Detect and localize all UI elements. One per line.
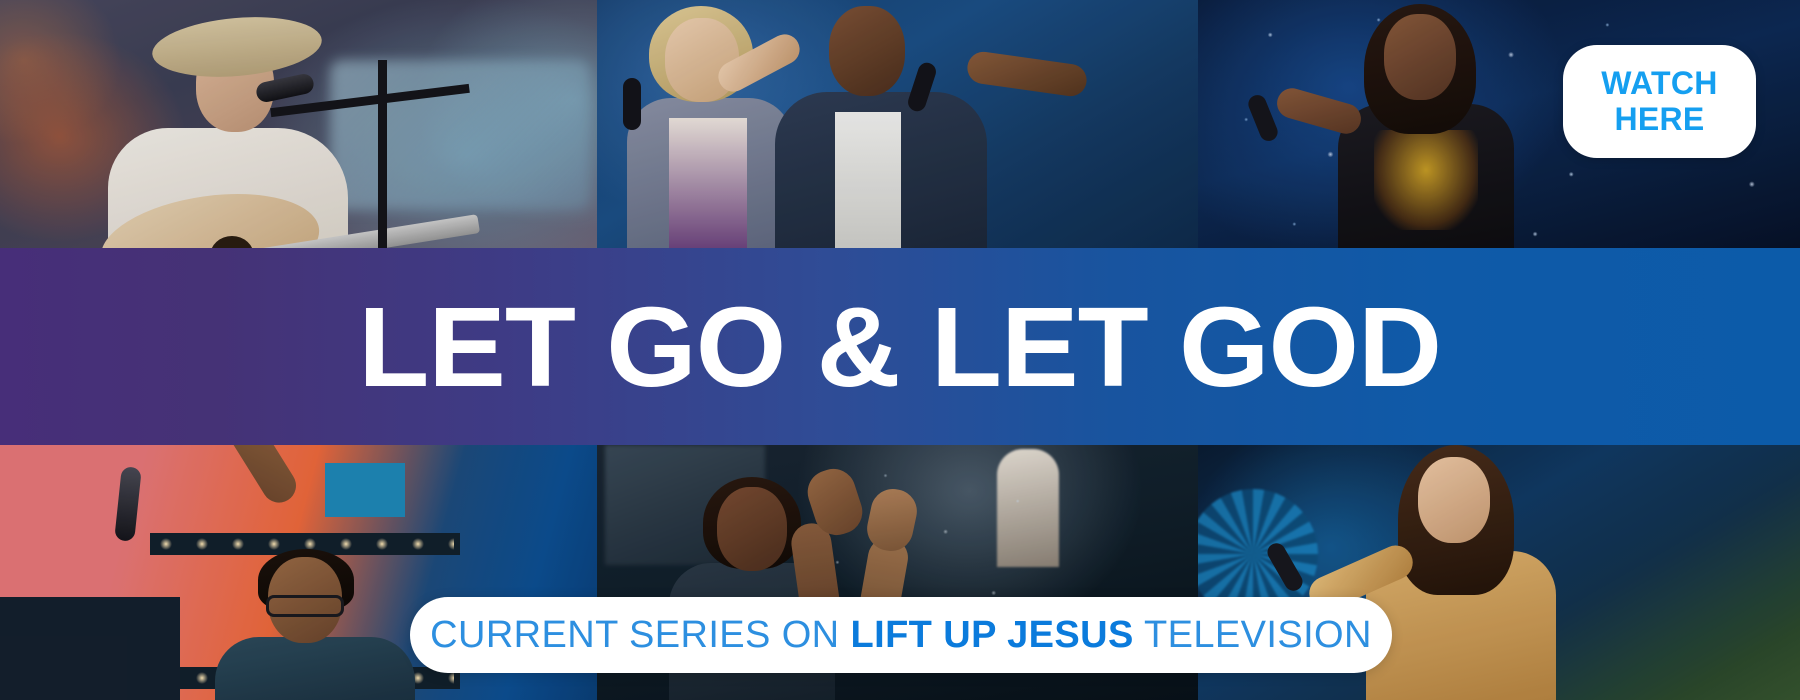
promo-banner: LET GO & LET GOD WATCH HERE CURRENT SERI… xyxy=(0,0,1800,700)
cta-highlight: LIFT UP JESUS xyxy=(851,614,1134,656)
watch-here-label-line2: HERE xyxy=(1614,102,1704,138)
cta-suffix: TELEVISION xyxy=(1144,614,1372,656)
collage-image-duo-singers-worship-leading xyxy=(597,0,1198,249)
watch-here-button[interactable]: WATCH HERE xyxy=(1563,45,1756,158)
image-overlay xyxy=(0,0,597,249)
watch-here-label-line1: WATCH xyxy=(1601,66,1717,102)
current-series-cta-label: CURRENT SERIES ON LIFT UP JESUS TELEVISI… xyxy=(430,614,1372,657)
current-series-cta-button[interactable]: CURRENT SERIES ON LIFT UP JESUS TELEVISI… xyxy=(410,597,1392,673)
image-overlay xyxy=(597,0,1198,249)
cta-prefix: CURRENT SERIES ON xyxy=(430,614,839,656)
headline-band: LET GO & LET GOD xyxy=(0,248,1800,445)
collage-image-guitarist-singing-on-stage xyxy=(0,0,597,249)
page-title: LET GO & LET GOD xyxy=(359,291,1442,404)
